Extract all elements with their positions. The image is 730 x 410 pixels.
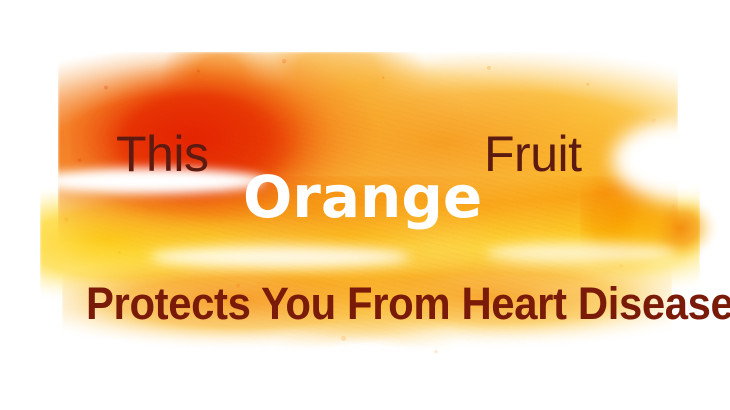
poster-canvas: This Fruit Orange Protects You From Hear… — [0, 0, 730, 410]
wash-white-break-right — [486, 243, 676, 263]
kicker-word-right: Fruit — [484, 129, 582, 179]
feature-word: Orange — [243, 168, 482, 226]
kicker-word-left: This — [116, 129, 208, 179]
headline-text: Protects You From Heart Disease — [86, 281, 730, 326]
wash-white-break-center — [150, 246, 410, 268]
wash-white-break-top-right — [612, 120, 730, 200]
